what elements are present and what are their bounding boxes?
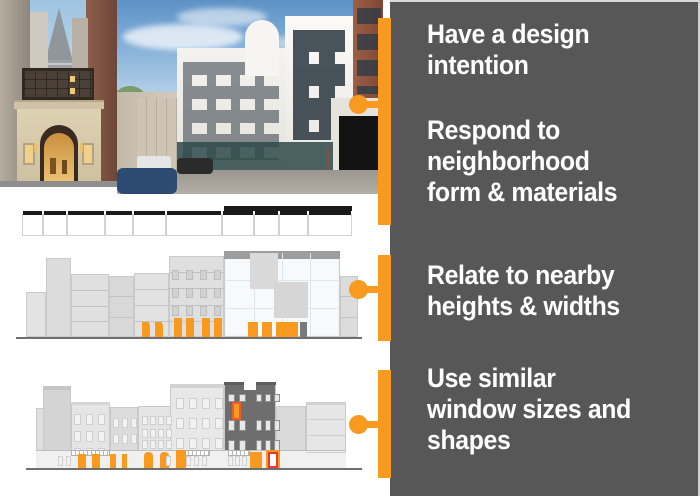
cornice [170, 384, 224, 388]
window [200, 306, 207, 316]
floor-line [109, 317, 134, 318]
window [150, 416, 156, 425]
storefront-window [235, 456, 240, 466]
storefront-window [228, 456, 233, 466]
window [200, 270, 207, 280]
window [239, 394, 246, 402]
window [122, 434, 128, 444]
plan-frontage-bar [106, 211, 132, 215]
window [186, 270, 193, 280]
plan-frontage-bar [44, 211, 66, 215]
slide-root: Have a design intention Respond to neigh… [0, 0, 700, 496]
plan-frontage-cell [279, 214, 308, 236]
figure [62, 160, 67, 174]
massing-building [26, 292, 46, 337]
window [131, 434, 137, 444]
diagram-street-elevation [0, 362, 383, 496]
window [150, 440, 156, 449]
window [189, 418, 197, 429]
tip-design-intention: Have a design intention [427, 19, 668, 81]
bar-segment-2 [378, 255, 391, 341]
floor-line [306, 452, 346, 453]
facade-window [82, 143, 94, 165]
floor-line [134, 321, 169, 322]
window [215, 438, 223, 449]
window [176, 438, 184, 449]
mullion [310, 253, 311, 335]
photo-historic-building [0, 0, 117, 187]
ground-floor-opening [92, 454, 100, 468]
window [98, 431, 105, 442]
window [74, 431, 81, 442]
floor-line [109, 296, 134, 297]
window [186, 288, 193, 298]
cornice [306, 402, 346, 405]
window [202, 418, 210, 429]
tip-window-sizes: Use similar window sizes and shapes [427, 363, 668, 456]
ground-floor-opening [248, 322, 258, 337]
plan-frontage-cell [105, 214, 133, 236]
window [98, 414, 105, 425]
diagram-massing-elevation [0, 246, 383, 356]
window [158, 416, 164, 425]
ground-floor-opening [186, 318, 194, 337]
window [215, 398, 223, 409]
window [215, 418, 223, 429]
massing-building [46, 258, 71, 337]
plan-frontage-cell [254, 214, 279, 236]
ground-floor-opening [202, 318, 210, 337]
sidewalk [0, 181, 117, 187]
storefront-window [194, 456, 199, 466]
plan-frontage-cell [166, 214, 222, 236]
plan-frontage-bar [223, 211, 253, 215]
rooftop-glass-addition [22, 68, 94, 100]
window [172, 306, 179, 316]
plan-frontage-cell [222, 214, 254, 236]
ground-floor-opening [174, 318, 182, 337]
plan-frontage-bar [255, 211, 278, 215]
cornice [14, 100, 104, 109]
window [166, 440, 172, 449]
wall-lamp [34, 143, 37, 152]
window [202, 398, 210, 409]
window [142, 429, 148, 438]
window [166, 429, 172, 438]
window [256, 394, 262, 402]
corner-turret [245, 20, 279, 76]
window [172, 270, 179, 280]
pedestrian [325, 148, 330, 170]
ground-line [26, 468, 362, 470]
parked-car [117, 168, 177, 194]
ground-floor-opening [276, 322, 284, 337]
storefront-window [242, 456, 247, 466]
floor-line [340, 317, 358, 318]
plan-frontage-cell [22, 214, 43, 236]
window [186, 306, 193, 316]
plan-combined-frontage-bar [224, 206, 352, 211]
window [189, 398, 197, 409]
window-glow [70, 88, 75, 94]
floor-line [134, 305, 169, 306]
window [113, 434, 119, 444]
photo-street-infill [117, 0, 383, 194]
figure [50, 158, 56, 174]
window [74, 414, 81, 425]
storefront-window [66, 456, 71, 466]
ground-floor-opening [78, 454, 86, 468]
ground-floor-opening [144, 452, 153, 468]
connector-neighborhood-form-dot [349, 95, 368, 114]
plan-frontage-cell [308, 214, 352, 236]
awning [71, 450, 110, 456]
storefront-window [202, 456, 207, 466]
cornice [43, 386, 71, 390]
window [176, 418, 184, 429]
window [228, 394, 235, 402]
window [189, 438, 197, 449]
highlighted-entry [268, 452, 278, 468]
connector-heights-widths-dot [349, 280, 368, 299]
plan-frontage-cell [133, 214, 166, 236]
ground-floor-opening [262, 322, 272, 337]
panel-top-edge [390, 0, 700, 2]
plan-frontage-bar [68, 211, 104, 215]
window [113, 418, 119, 428]
cornice [71, 402, 110, 405]
window [158, 429, 164, 438]
window [274, 420, 280, 431]
window [142, 416, 148, 425]
window [172, 288, 179, 298]
floor-line [71, 306, 109, 307]
window [214, 270, 221, 280]
storefront-window [186, 456, 191, 466]
plan-frontage-cell [43, 214, 67, 236]
tip-neighborhood-form: Respond to neighborhood form & materials [427, 115, 668, 208]
window [86, 414, 93, 425]
window [239, 420, 246, 431]
window [265, 420, 271, 431]
window [131, 418, 137, 428]
connector-window-sizes-dot [349, 415, 368, 434]
window [214, 306, 221, 316]
window [166, 416, 172, 425]
window [150, 429, 156, 438]
window [256, 420, 262, 431]
plan-frontage-bar [167, 211, 221, 215]
floor-line [71, 321, 109, 322]
window [214, 288, 221, 298]
floor-line [134, 289, 169, 290]
window [265, 394, 271, 402]
window [274, 394, 280, 402]
garage-opening [339, 116, 383, 172]
arched-entry-interior [44, 133, 74, 187]
window [228, 420, 235, 431]
massing-building [109, 276, 134, 337]
service-opening [300, 322, 307, 337]
parked-car [177, 158, 213, 174]
floor-line [306, 435, 346, 436]
recessed-volume [274, 282, 308, 318]
arched-ground-opening [142, 322, 150, 337]
roof-notch [244, 382, 256, 390]
floor-line [71, 290, 109, 291]
arched-ground-opening [155, 322, 163, 337]
window [122, 418, 128, 428]
plan-frontage-bar [23, 211, 42, 215]
window [142, 440, 148, 449]
storefront-window [58, 456, 63, 466]
window [200, 288, 207, 298]
ground-floor-opening [284, 322, 289, 337]
ground-floor-opening [110, 454, 116, 468]
highlighted-window [232, 402, 241, 420]
window [158, 440, 164, 449]
wall-lamp [80, 143, 83, 152]
ground-floor-opening [122, 454, 127, 468]
ground-floor-opening [214, 318, 222, 337]
cloud [123, 24, 243, 50]
plan-frontage-bar [280, 211, 307, 215]
window [86, 431, 93, 442]
ground-floor-opening [176, 450, 186, 468]
storefront-window [166, 456, 171, 466]
plan-frontage-bar [309, 211, 351, 215]
window [202, 438, 210, 449]
window [176, 398, 184, 409]
ground-floor-opening [250, 452, 262, 468]
bar-segment-1 [378, 18, 391, 225]
plan-frontage-bar [134, 211, 165, 215]
window-glow [70, 76, 75, 82]
plan-frontage-cell [67, 214, 105, 236]
ground-line [16, 337, 362, 339]
diagram-plan-widths [0, 196, 383, 242]
floor-line [306, 419, 346, 420]
tip-heights-widths: Relate to nearby heights & widths [427, 260, 668, 322]
